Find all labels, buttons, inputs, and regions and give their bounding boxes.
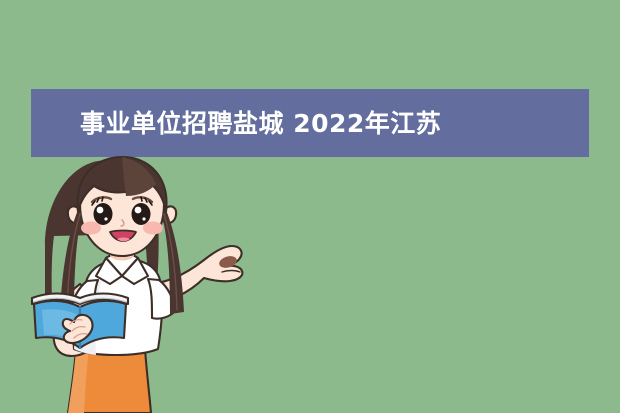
screenshot-canvas: 事业单位招聘盐城 2022年江苏 bbox=[0, 0, 620, 413]
title-banner: 事业单位招聘盐城 2022年江苏 bbox=[31, 89, 589, 157]
woman-holding-book-illustration bbox=[18, 152, 280, 413]
page-title: 事业单位招聘盐城 2022年江苏 bbox=[80, 111, 441, 136]
